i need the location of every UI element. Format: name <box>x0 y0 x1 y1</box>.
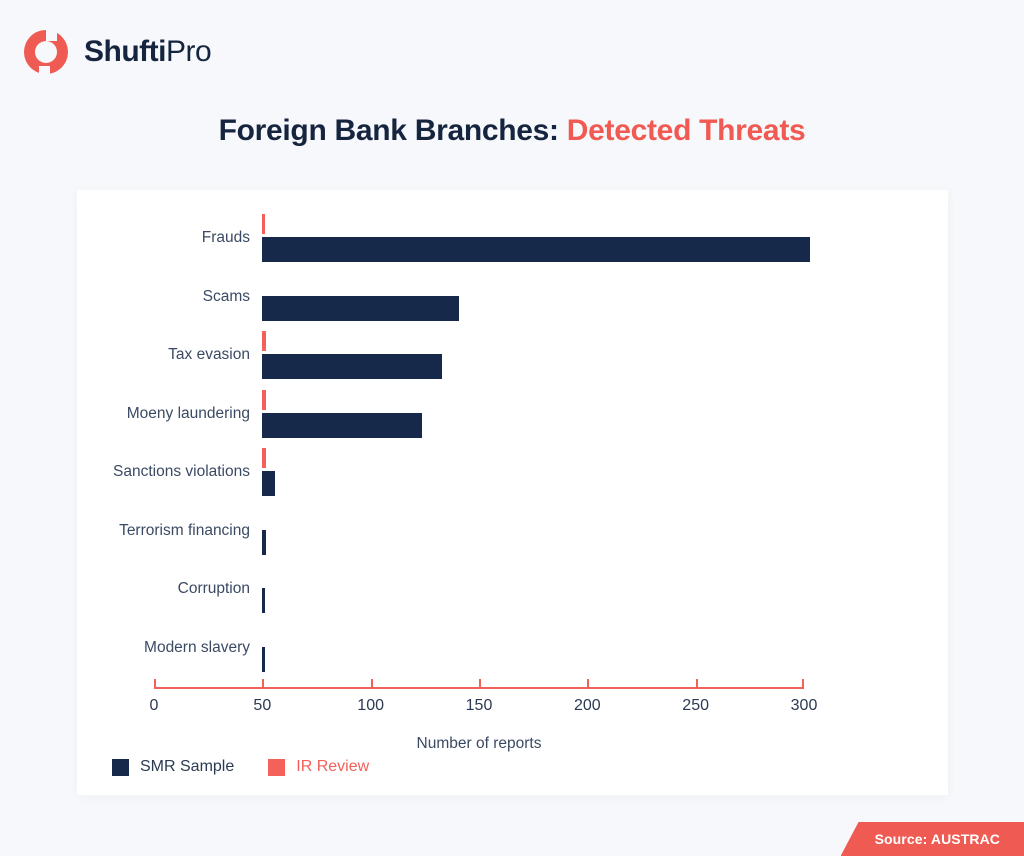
x-axis-tick <box>802 679 804 687</box>
y-axis-tick-label: Corruption <box>178 580 250 598</box>
page-title-main: Foreign Bank Branches: <box>219 114 559 147</box>
bar-smr-sample <box>262 471 275 496</box>
chart-row: Frauds <box>262 209 912 268</box>
y-axis-tick-label: Sanctions violations <box>113 463 250 481</box>
x-axis-tick <box>262 679 264 687</box>
x-axis-tick <box>371 679 373 687</box>
bar-ir-review <box>262 331 266 351</box>
legend-swatch-icon <box>112 759 129 776</box>
legend-label: SMR Sample <box>140 758 234 776</box>
x-axis-tick-label: 50 <box>253 697 271 715</box>
y-axis-tick-label: Frauds <box>202 229 250 247</box>
chart-row: Modern slavery <box>262 619 912 678</box>
legend-item: IR Review <box>268 758 369 776</box>
page-title: Foreign Bank Branches: Detected Threats <box>0 114 1024 148</box>
x-axis-tick <box>154 679 156 687</box>
shufti-ring-icon <box>22 28 70 76</box>
chart-card: FraudsScamsTax evasionMoeny launderingSa… <box>77 190 948 795</box>
x-axis-tick <box>479 679 481 687</box>
x-axis-tick <box>587 679 589 687</box>
brand-name: ShuftiPro <box>84 37 211 67</box>
chart-row: Moeny laundering <box>262 385 912 444</box>
page-title-accent: Detected Threats <box>567 114 806 147</box>
x-axis-tick-label: 250 <box>682 697 709 715</box>
bar-smr-sample <box>262 588 265 613</box>
chart-plot-area: FraudsScamsTax evasionMoeny launderingSa… <box>262 209 912 687</box>
x-axis-tick-label: 100 <box>357 697 384 715</box>
x-axis-tick-label: 0 <box>150 697 159 715</box>
bar-ir-review <box>262 214 265 234</box>
source-badge: Source: AUSTRAC <box>841 822 1024 856</box>
y-axis-tick-label: Modern slavery <box>144 639 250 657</box>
chart-row: Sanctions violations <box>262 443 912 502</box>
brand-logo: ShuftiPro <box>22 28 211 76</box>
x-axis-title: Number of reports <box>154 735 804 753</box>
x-axis-line: 050100150200250300 <box>154 687 804 689</box>
legend-label: IR Review <box>296 758 369 776</box>
brand-name-bold: Shufti <box>84 35 166 68</box>
chart-legend: SMR SampleIR Review <box>112 758 369 776</box>
bar-smr-sample <box>262 647 265 672</box>
chart-row: Corruption <box>262 560 912 619</box>
chart-row: Tax evasion <box>262 326 912 385</box>
bar-smr-sample <box>262 530 266 555</box>
y-axis-tick-label: Moeny laundering <box>127 405 250 423</box>
legend-item: SMR Sample <box>112 758 234 776</box>
legend-swatch-icon <box>268 759 285 776</box>
bar-ir-review <box>262 390 266 410</box>
bar-smr-sample <box>262 354 442 379</box>
y-axis-tick-label: Terrorism financing <box>119 522 250 540</box>
brand-name-light: Pro <box>166 35 211 68</box>
chart-row: Scams <box>262 268 912 327</box>
bar-smr-sample <box>262 296 459 321</box>
bar-smr-sample <box>262 237 810 262</box>
x-axis-tick <box>696 679 698 687</box>
bar-ir-review <box>262 448 266 468</box>
x-axis-tick-label: 150 <box>466 697 493 715</box>
chart-row: Terrorism financing <box>262 502 912 561</box>
x-axis-tick-label: 300 <box>791 697 818 715</box>
y-axis-tick-label: Tax evasion <box>168 346 250 364</box>
y-axis-tick-label: Scams <box>203 288 250 306</box>
x-axis-tick-label: 200 <box>574 697 601 715</box>
bar-smr-sample <box>262 413 422 438</box>
